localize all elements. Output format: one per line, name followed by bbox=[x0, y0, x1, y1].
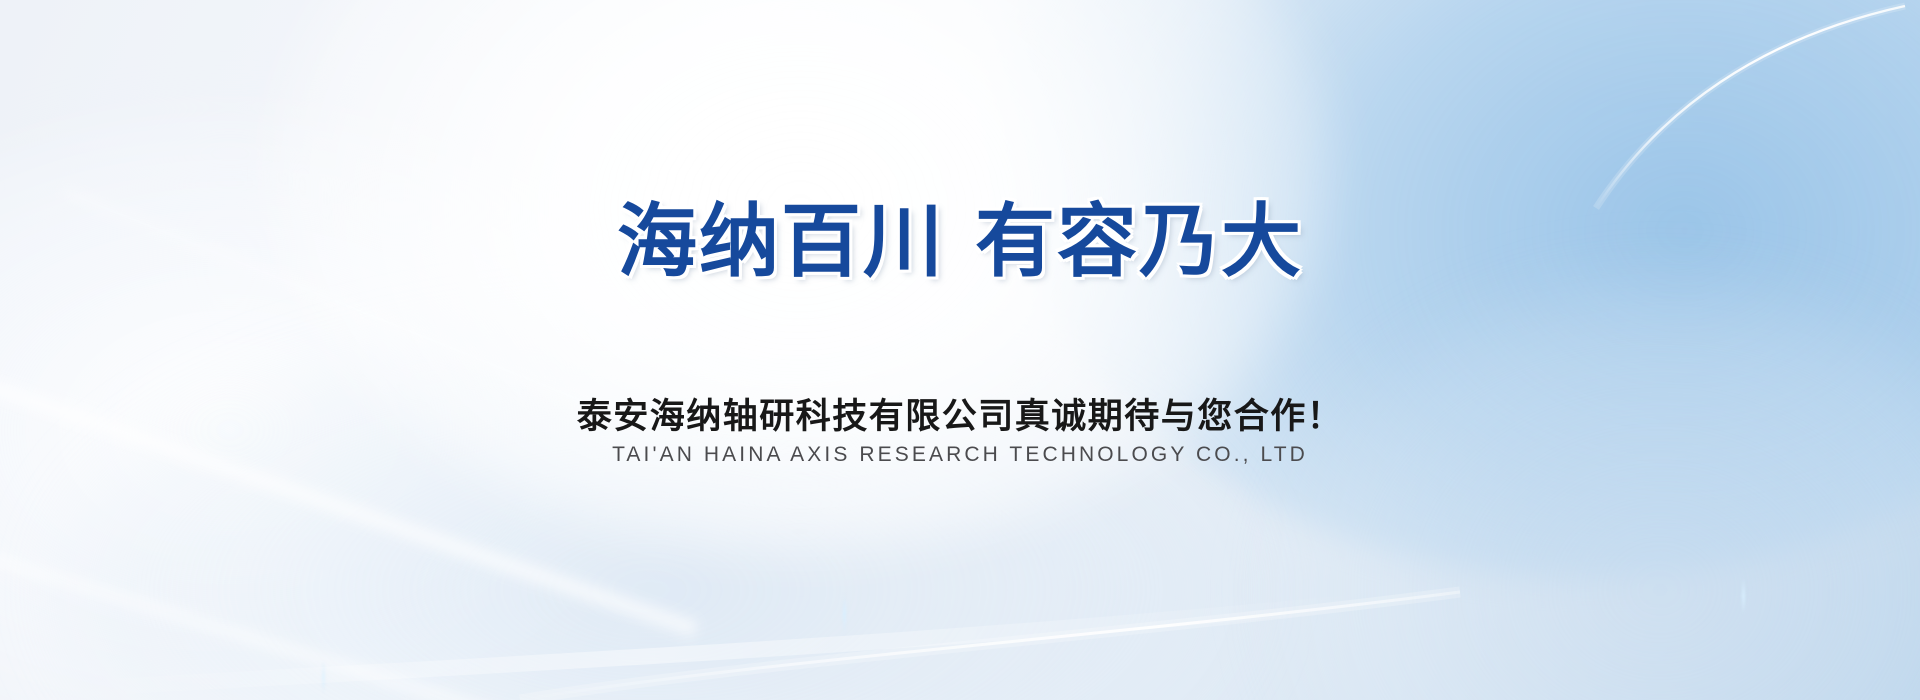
banner-subtitle-chinese: 泰安海纳轴研科技有限公司真诚期待与您合作！ bbox=[0, 388, 1920, 439]
headline-part-right: 有容乃大 bbox=[975, 195, 1303, 288]
headline-part-left: 海纳百川 bbox=[617, 195, 945, 288]
background-left-haze bbox=[0, 120, 680, 700]
background-lower-tint bbox=[60, 330, 1240, 700]
background-right-tint bbox=[1280, 280, 1920, 700]
light-streak-icon bbox=[60, 184, 640, 429]
hero-banner: 海纳百川有容乃大 泰安海纳轴研科技有限公司真诚期待与您合作！ TAI'AN HA… bbox=[0, 0, 1920, 700]
light-streak-icon bbox=[0, 324, 700, 642]
banner-headline: 海纳百川有容乃大 bbox=[0, 200, 1920, 284]
background-corner-glow bbox=[1000, 0, 1920, 580]
light-streak-icon bbox=[0, 489, 526, 700]
decorative-arcs bbox=[0, 0, 1920, 700]
arc-top-right-glow bbox=[1596, 6, 1905, 208]
light-fleck-icon bbox=[843, 592, 846, 636]
arc-bottom-glow bbox=[520, 592, 1460, 700]
background-center-glow bbox=[270, 0, 1330, 550]
light-fleck-icon bbox=[1742, 576, 1745, 616]
arc-top-right-icon bbox=[1596, 6, 1905, 208]
banner-content: 海纳百川有容乃大 泰安海纳轴研科技有限公司真诚期待与您合作！ TAI'AN HA… bbox=[0, 0, 1920, 700]
arc-bottom-icon bbox=[520, 592, 1460, 700]
banner-subtitle-english: TAI'AN HAINA AXIS RESEARCH TECHNOLOGY CO… bbox=[0, 443, 1920, 467]
light-fleck-icon bbox=[322, 660, 325, 694]
arc-bottom-soft-band bbox=[60, 600, 1380, 690]
